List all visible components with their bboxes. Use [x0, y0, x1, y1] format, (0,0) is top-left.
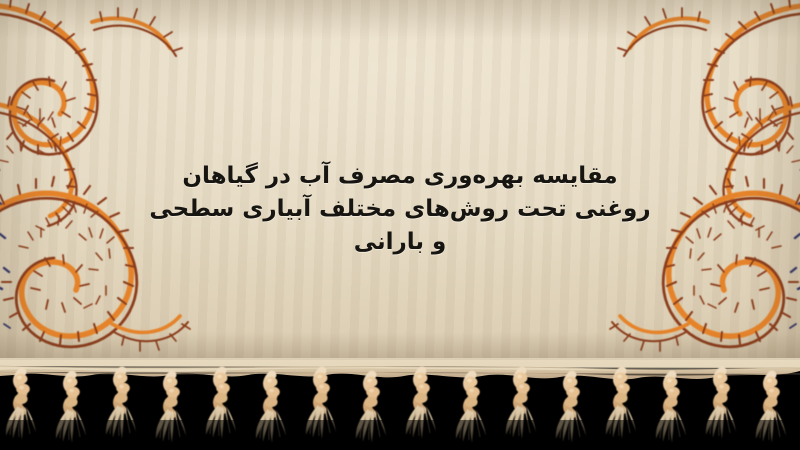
- textile-title-card: مقایسه بهره‌وری مصرف آب در گیاهان روغنی …: [0, 0, 800, 450]
- knotted-tassel-fringe: [0, 358, 800, 450]
- title-text: مقایسه بهره‌وری مصرف آب در گیاهان روغنی …: [0, 160, 800, 259]
- title-line-2: روغنی تحت روش‌های مختلف آبیاری سطحی: [0, 193, 800, 226]
- title-line-3: و بارانی: [0, 226, 800, 259]
- title-line-1: مقایسه بهره‌وری مصرف آب در گیاهان: [0, 160, 800, 193]
